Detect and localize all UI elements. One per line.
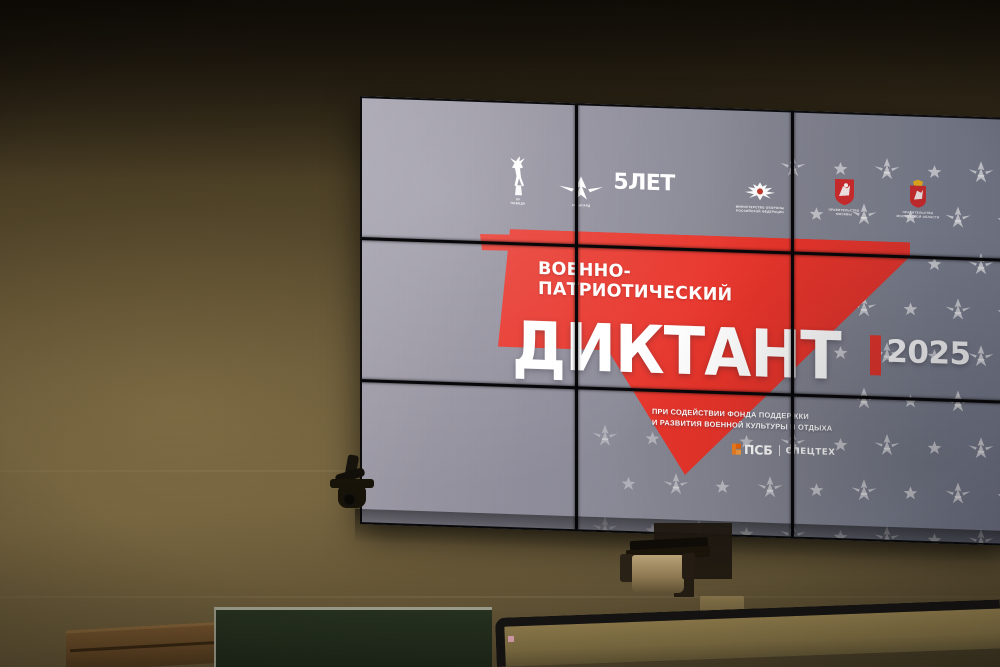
video-wall-surface: 80 ПОБЕДА АВАНГАРД 5ЛЕТ bbox=[360, 96, 1000, 546]
star-glyph bbox=[968, 343, 994, 368]
title-red-bar bbox=[870, 335, 881, 375]
avangard-star-icon bbox=[558, 174, 604, 202]
motherland-statue-icon bbox=[503, 154, 533, 195]
poster-title: ДИКТАНТ bbox=[512, 319, 841, 384]
logo-avangard-caption: АВАНГАРД bbox=[572, 203, 591, 208]
logo-5-let-text: 5ЛЕТ bbox=[613, 169, 674, 196]
star-glyph bbox=[903, 485, 918, 501]
logo-moscow-government: ПРАВИТЕЛЬСТВО МОСКВЫ bbox=[817, 177, 871, 217]
logo-moscow-region-government: ПРАВИТЕЛЬСТВО МОСКОВСКОЙ ОБЛАСТИ bbox=[889, 178, 947, 219]
star-glyph bbox=[621, 475, 636, 491]
psb-logo-icon bbox=[732, 443, 741, 454]
logo-ministry-of-defence: МИНИСТЕРСТВО ОБОРОНЫ РОССИЙСКОЙ ФЕДЕРАЦИ… bbox=[719, 178, 801, 215]
star-glyph bbox=[927, 255, 942, 271]
moscow-coat-of-arms-icon bbox=[834, 178, 855, 207]
star-glyph bbox=[968, 435, 994, 460]
sponsor-divider bbox=[779, 445, 780, 456]
star-glyph bbox=[945, 205, 971, 230]
star-glyph bbox=[945, 297, 971, 322]
board-sticker bbox=[508, 636, 514, 642]
poster-year: 2025 bbox=[886, 334, 970, 373]
sponsor-psb: ПСБ bbox=[732, 441, 773, 457]
wall-seam-lower bbox=[0, 596, 1000, 598]
projector-wall-mount bbox=[618, 523, 738, 598]
star-glyph bbox=[968, 251, 994, 276]
star-glyph bbox=[945, 389, 971, 414]
logo-5-let: 5ЛЕТ bbox=[615, 170, 673, 211]
moscow-region-coat-of-arms-icon bbox=[907, 179, 929, 209]
logo-80-pobeda: 80 ПОБЕДА bbox=[495, 154, 541, 206]
star-glyph bbox=[715, 478, 730, 494]
star-glyph bbox=[945, 481, 971, 506]
room-scene: 80 ПОБЕДА АВАНГАРД 5ЛЕТ bbox=[0, 0, 1000, 667]
star-glyph bbox=[968, 527, 994, 545]
star-glyph bbox=[809, 482, 824, 498]
camera-lens-icon bbox=[343, 493, 356, 506]
logo-moscow-region-caption: ПРАВИТЕЛЬСТВО МОСКОВСКОЙ ОБЛАСТИ bbox=[897, 210, 940, 220]
poster-kicker: ВОЕННО- ПАТРИОТИЧЕСКИЙ bbox=[538, 260, 732, 306]
star-glyph bbox=[968, 159, 994, 184]
logo-avangard: АВАНГАРД bbox=[551, 174, 611, 208]
sponsor-psb-name: ПСБ bbox=[744, 442, 773, 458]
video-wall[interactable]: 80 ПОБЕДА АВАНГАРД 5ЛЕТ bbox=[360, 96, 1000, 546]
sponsor-spectech-name: СПЕЦТЕХ bbox=[786, 446, 836, 458]
green-chalkboard bbox=[214, 607, 492, 667]
eagle-emblem-icon bbox=[741, 178, 779, 203]
ceiling-camera bbox=[330, 455, 376, 527]
logo-80-pobeda-caption: 80 ПОБЕДА bbox=[511, 197, 526, 206]
logo-mod-caption: МИНИСТЕРСТВО ОБОРОНЫ РОССИЙСКОЙ ФЕДЕРАЦИ… bbox=[736, 204, 785, 214]
logo-moscow-caption: ПРАВИТЕЛЬСТВО МОСКВЫ bbox=[829, 207, 860, 216]
star-glyph bbox=[927, 439, 942, 455]
